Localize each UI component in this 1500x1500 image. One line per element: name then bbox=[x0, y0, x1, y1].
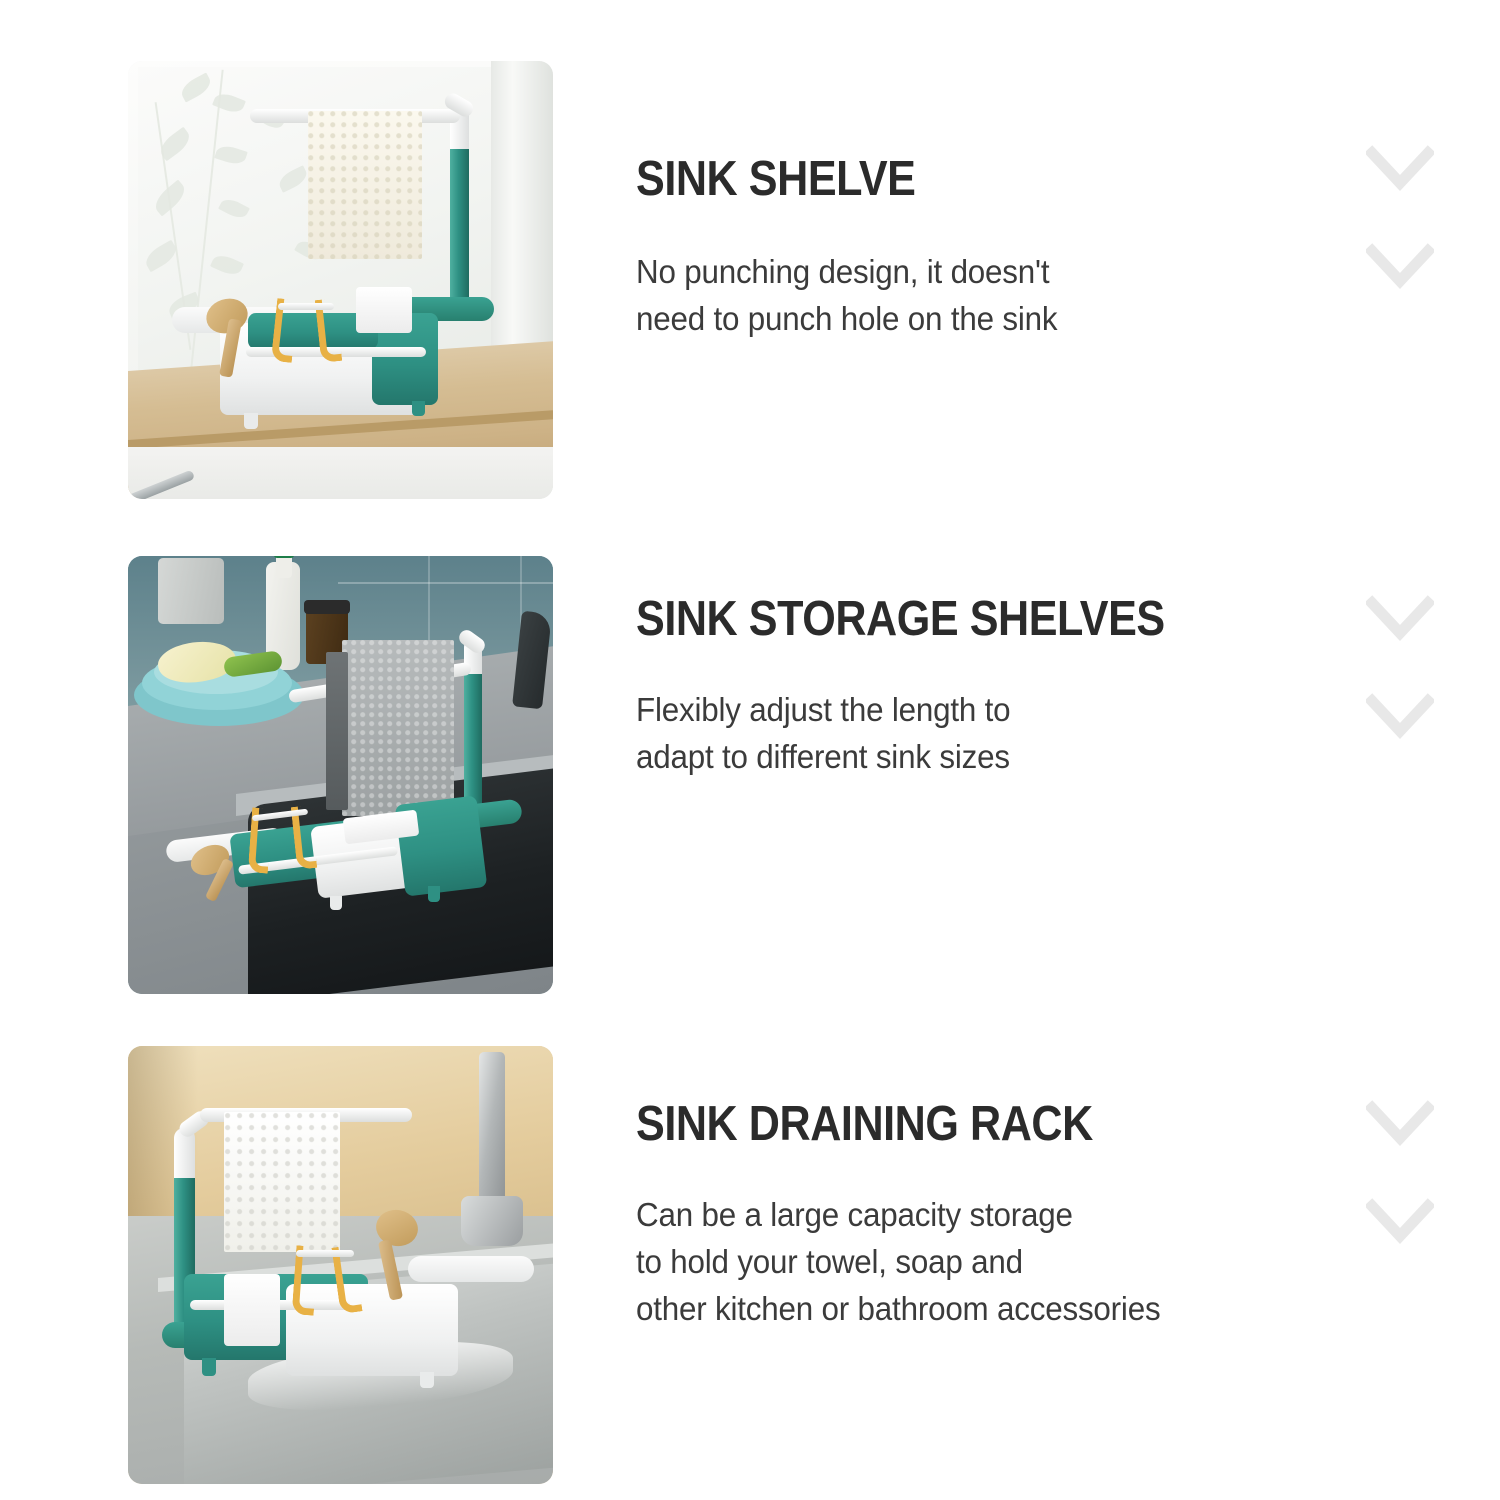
feature-description: No punching design, it doesn't need to p… bbox=[636, 249, 1320, 343]
product-photo-grey-counter bbox=[128, 556, 553, 994]
feature-section-sink-shelve: SINK SHELVE No punching design, it doesn… bbox=[0, 45, 1500, 485]
chevron-down-icon bbox=[1366, 1198, 1434, 1246]
feature-text-sink-shelve: SINK SHELVE No punching design, it doesn… bbox=[636, 155, 1356, 343]
description-line: Flexibly adjust the length to bbox=[636, 691, 1010, 728]
feature-description: Can be a large capacity storage to hold … bbox=[636, 1192, 1320, 1333]
chevron-down-icon bbox=[1366, 1100, 1434, 1148]
description-line: need to punch hole on the sink bbox=[636, 300, 1057, 337]
description-line: to hold your towel, soap and bbox=[636, 1243, 1023, 1280]
product-photo-window-sill bbox=[128, 61, 553, 499]
chevron-group bbox=[1366, 145, 1476, 341]
description-line: adapt to different sink sizes bbox=[636, 738, 1010, 775]
feature-heading: SINK STORAGE SHELVES bbox=[636, 595, 1270, 645]
description-line: No punching design, it doesn't bbox=[636, 253, 1049, 290]
chevron-group bbox=[1366, 1100, 1476, 1296]
chevron-down-icon bbox=[1366, 145, 1434, 193]
description-line: other kitchen or bathroom accessories bbox=[636, 1290, 1160, 1327]
feature-heading: SINK SHELVE bbox=[636, 155, 1270, 205]
feature-section-sink-draining-rack: SINK DRAINING RACK Can be a large capaci… bbox=[0, 1030, 1500, 1470]
description-line: Can be a large capacity storage bbox=[636, 1196, 1073, 1233]
feature-text-sink-draining-rack: SINK DRAINING RACK Can be a large capaci… bbox=[636, 1100, 1356, 1333]
feature-section-sink-storage-shelves: SINK STORAGE SHELVES Flexibly adjust the… bbox=[0, 540, 1500, 980]
infographic-page: SINK SHELVE No punching design, it doesn… bbox=[0, 0, 1500, 1500]
chevron-down-icon bbox=[1366, 243, 1434, 291]
product-photo-steel-sink bbox=[128, 1046, 553, 1484]
feature-heading: SINK DRAINING RACK bbox=[636, 1100, 1270, 1150]
feature-description: Flexibly adjust the length to adapt to d… bbox=[636, 687, 1320, 781]
chevron-down-icon bbox=[1366, 595, 1434, 643]
chevron-down-icon bbox=[1366, 693, 1434, 741]
chevron-group bbox=[1366, 595, 1476, 791]
feature-text-sink-storage-shelves: SINK STORAGE SHELVES Flexibly adjust the… bbox=[636, 595, 1356, 781]
